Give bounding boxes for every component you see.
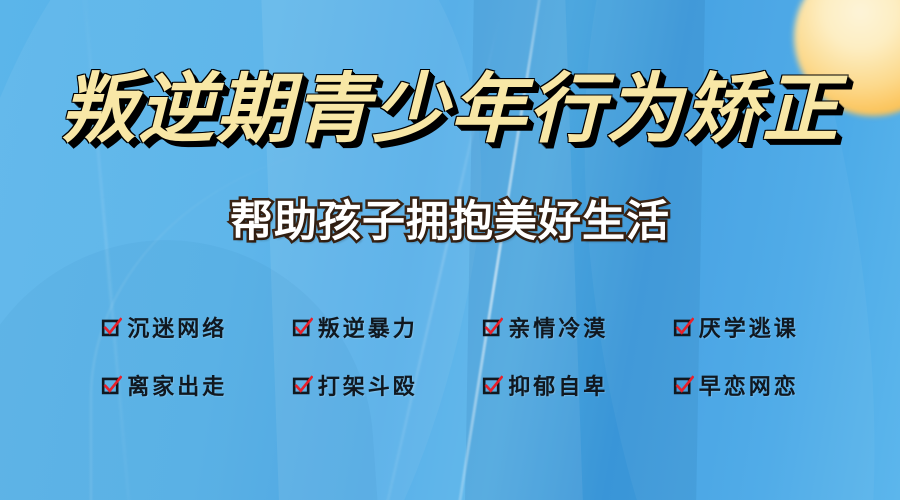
checklist-item[interactable]: 抑郁自卑 (453, 356, 638, 414)
checklist-item[interactable]: 打架斗殴 (263, 356, 448, 414)
checkbox-checked-icon (292, 317, 313, 338)
promo-banner: 叛逆期青少年行为矫正 帮助孩子拥抱美好生活 沉迷网络 (0, 0, 900, 500)
banner-title: 叛逆期青少年行为矫正 (0, 72, 900, 148)
banner-content: 叛逆期青少年行为矫正 帮助孩子拥抱美好生活 沉迷网络 (0, 0, 900, 500)
checklist-item-label: 抑郁自卑 (508, 369, 608, 401)
checklist-item-label: 打架斗殴 (318, 369, 418, 401)
checklist-item-label: 离家出走 (127, 369, 227, 401)
checkbox-checked-icon (292, 375, 313, 396)
checkbox-checked-icon (101, 375, 122, 396)
checklist-item[interactable]: 沉迷网络 (72, 298, 257, 356)
symptom-checklist: 沉迷网络 叛逆暴力 亲情冷漠 (72, 298, 828, 414)
checkbox-checked-icon (673, 317, 694, 338)
checkbox-checked-icon (101, 317, 122, 338)
checklist-item-label: 沉迷网络 (127, 311, 227, 343)
checklist-item[interactable]: 叛逆暴力 (263, 298, 448, 356)
checklist-item[interactable]: 厌学逃课 (644, 298, 829, 356)
banner-subtitle: 帮助孩子拥抱美好生活 (0, 198, 900, 246)
checkbox-checked-icon (482, 317, 503, 338)
checklist-item-label: 早恋网恋 (699, 369, 799, 401)
checklist-item-label: 叛逆暴力 (318, 311, 418, 343)
checklist-item[interactable]: 亲情冷漠 (453, 298, 638, 356)
checklist-item[interactable]: 早恋网恋 (644, 356, 829, 414)
checklist-item-label: 亲情冷漠 (508, 311, 608, 343)
checkbox-checked-icon (673, 375, 694, 396)
checklist-item[interactable]: 离家出走 (72, 356, 257, 414)
checklist-item-label: 厌学逃课 (699, 311, 799, 343)
checkbox-checked-icon (482, 375, 503, 396)
